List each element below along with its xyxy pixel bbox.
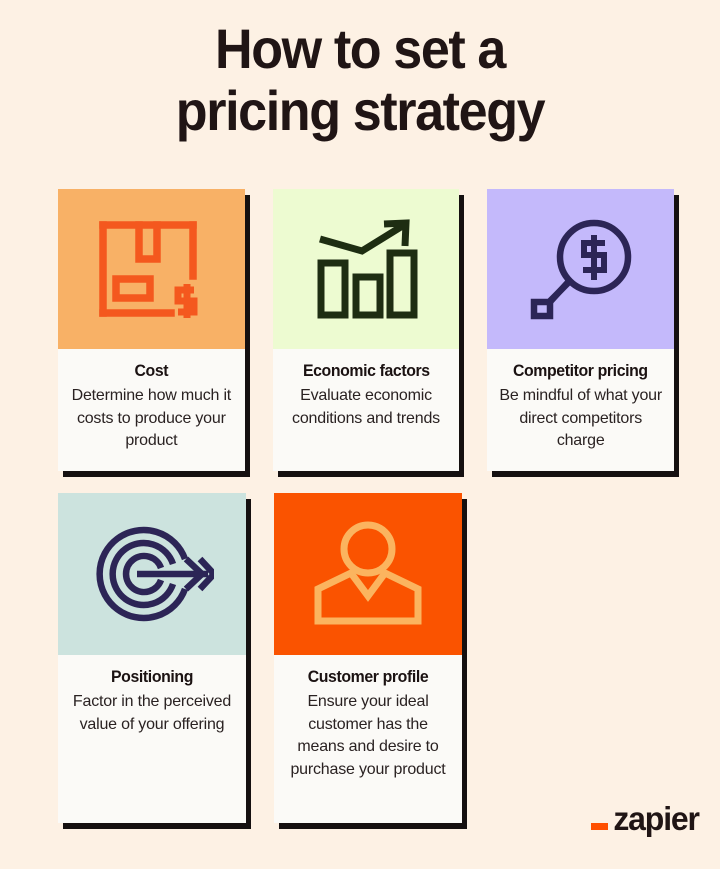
card-competitor-pricing-body: Competitor pricing Be mindful of what yo…	[487, 349, 674, 471]
page-title-line-1: How to set a	[25, 18, 695, 80]
card-economic-factors-description: Evaluate economic conditions and trends	[283, 385, 450, 430]
zapier-logo-dash-icon	[591, 823, 608, 830]
zapier-logo: zapier	[591, 802, 700, 835]
pricing-strategy-card-grid: Cost Determine how much it costs to prod…	[58, 189, 674, 823]
card-customer-profile-description: Ensure your ideal customer has the means…	[284, 691, 452, 781]
card-cost[interactable]: Cost Determine how much it costs to prod…	[58, 189, 245, 471]
card-economic-factors-media	[273, 189, 460, 349]
card-cost-title: Cost	[71, 361, 231, 381]
card-customer-profile-body: Customer profile Ensure your ideal custo…	[274, 655, 462, 823]
person-profile-icon	[313, 520, 423, 628]
page-title: How to set a pricing strategy	[0, 0, 720, 142]
box-with-dollar-icon	[97, 219, 205, 319]
card-cost-media	[58, 189, 245, 349]
card-row-bottom: Positioning Factor in the perceived valu…	[58, 493, 674, 823]
card-positioning-description: Factor in the perceived value of your of…	[68, 691, 236, 736]
zapier-logo-wordmark: zapier	[613, 802, 699, 835]
card-positioning[interactable]: Positioning Factor in the perceived valu…	[58, 493, 246, 823]
page-title-line-2: pricing strategy	[25, 80, 695, 142]
card-positioning-body: Positioning Factor in the perceived valu…	[58, 655, 246, 823]
card-cost-body: Cost Determine how much it costs to prod…	[58, 349, 245, 471]
card-cost-description: Determine how much it costs to produce y…	[68, 385, 235, 453]
target-arrow-icon	[90, 521, 214, 627]
card-economic-factors-title: Economic factors	[286, 361, 446, 381]
card-competitor-pricing-media	[487, 189, 674, 349]
card-customer-profile-media	[274, 493, 462, 655]
card-positioning-title: Positioning	[71, 667, 232, 687]
card-competitor-pricing[interactable]: Competitor pricing Be mindful of what yo…	[487, 189, 674, 471]
card-competitor-pricing-title: Competitor pricing	[501, 361, 661, 381]
card-competitor-pricing-description: Be mindful of what your direct competito…	[497, 385, 664, 453]
card-customer-profile-title: Customer profile	[287, 667, 448, 687]
card-customer-profile[interactable]: Customer profile Ensure your ideal custo…	[274, 493, 462, 823]
card-economic-factors[interactable]: Economic factors Evaluate economic condi…	[273, 189, 460, 471]
card-row-top: Cost Determine how much it costs to prod…	[58, 189, 674, 471]
card-positioning-media	[58, 493, 246, 655]
bar-chart-up-arrow-icon	[314, 217, 418, 321]
card-economic-factors-body: Economic factors Evaluate economic condi…	[273, 349, 460, 471]
magnifier-dollar-icon	[526, 216, 636, 322]
